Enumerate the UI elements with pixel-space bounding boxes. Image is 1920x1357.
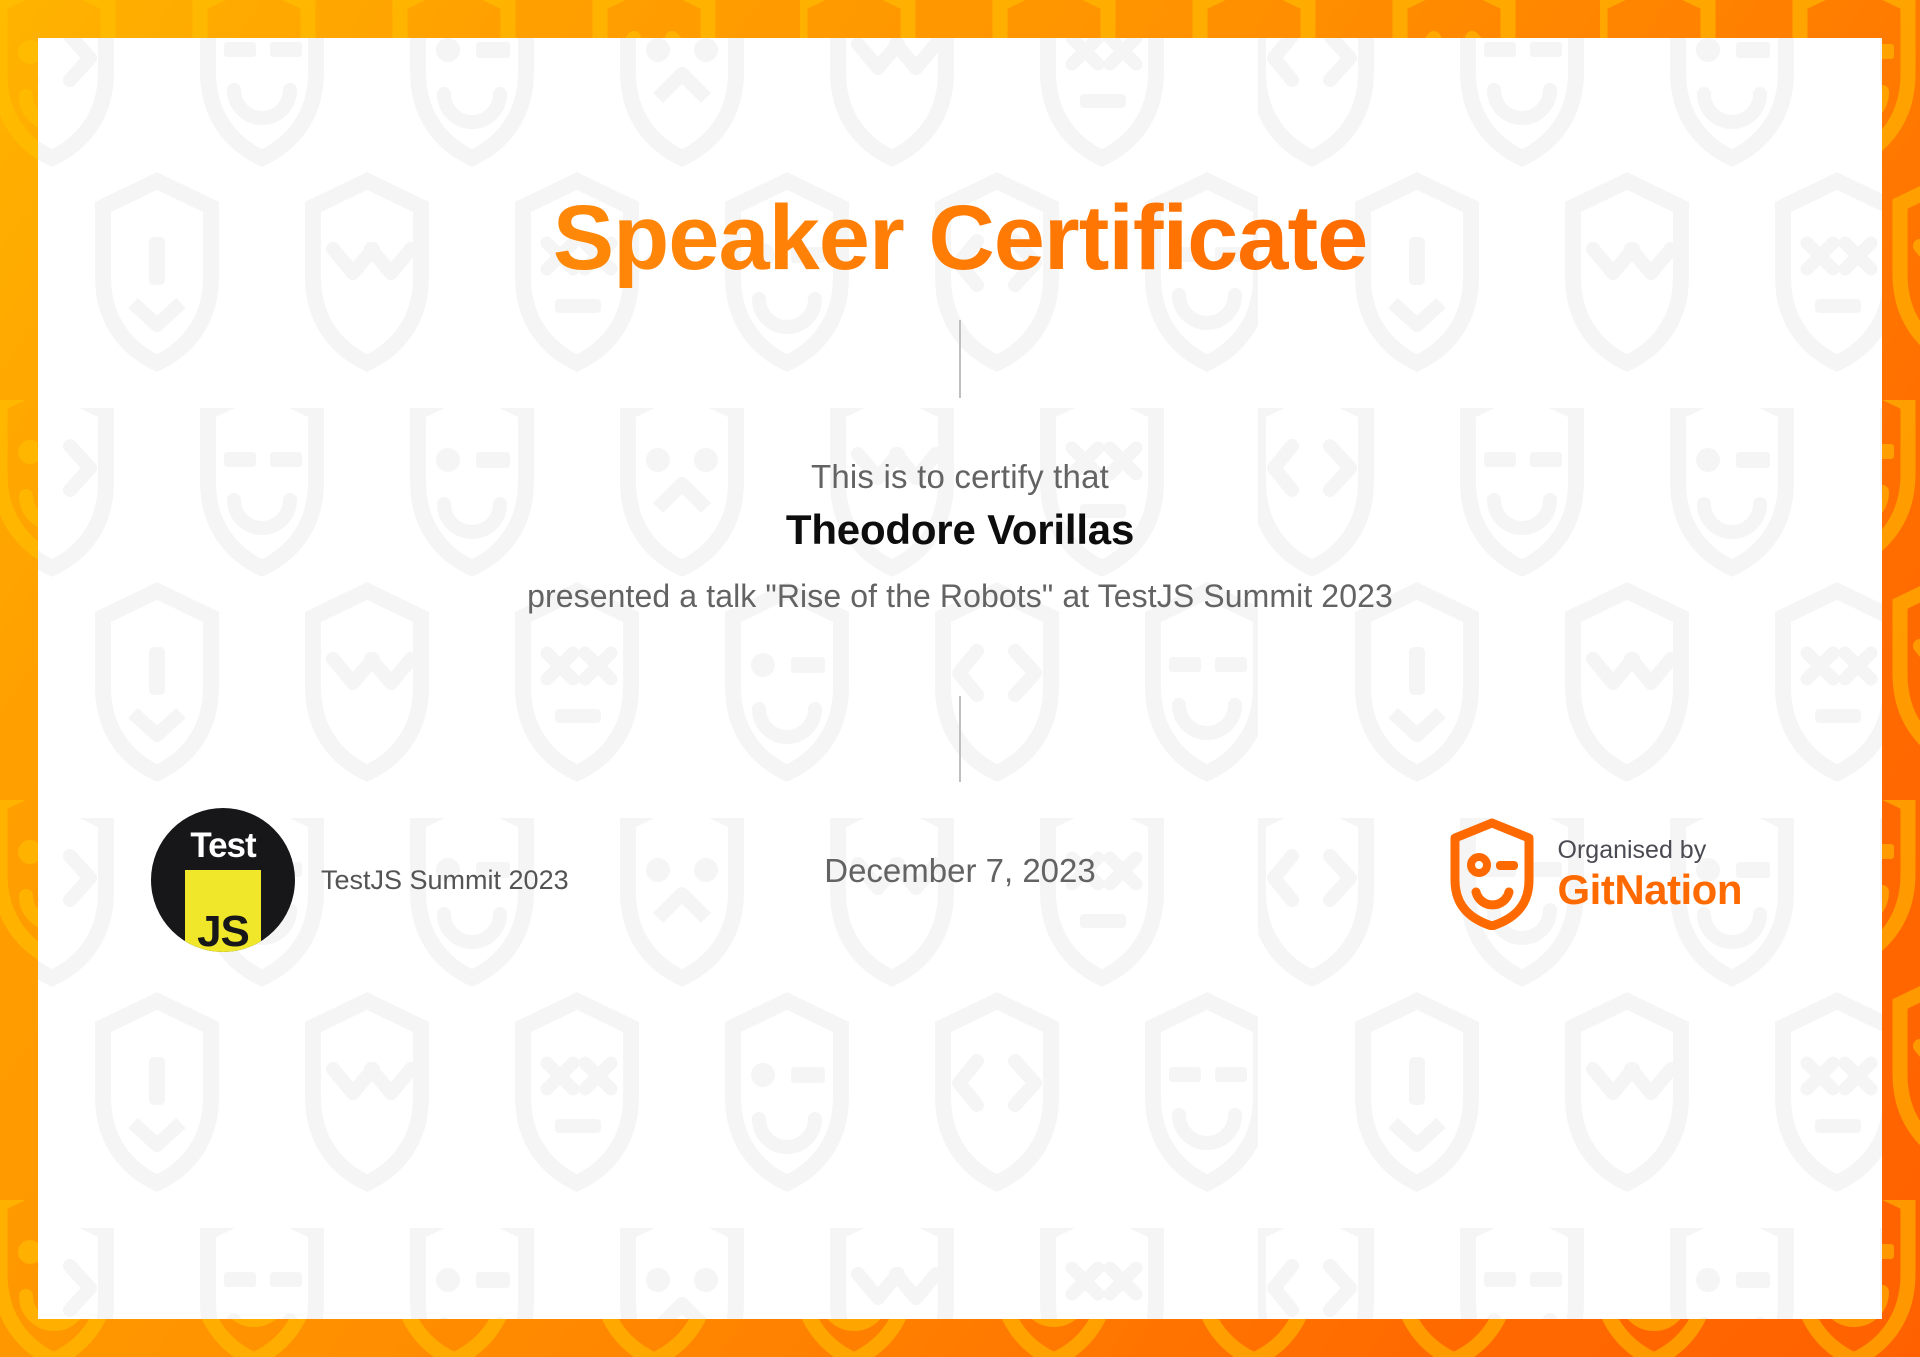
certificate-card: Speaker Certificate This is to certify t… [38, 38, 1882, 1319]
page-title: Speaker Certificate [38, 190, 1882, 288]
testjs-logo-word-js: JS [185, 910, 261, 952]
organiser-kicker: Organised by [1558, 835, 1742, 866]
gitnation-shield-icon [1448, 818, 1536, 930]
talk-description: presented a talk "Rise of the Robots" at… [38, 578, 1882, 615]
organiser-text: Organised by GitNation [1558, 835, 1742, 913]
organiser-brand: GitNation [1558, 866, 1742, 913]
divider-tick-top [959, 320, 961, 398]
organiser-lockup: Organised by GitNation [1448, 818, 1742, 930]
certificate-footer: Test JS TestJS Summit 2023 December 7, 2… [38, 790, 1882, 990]
certificate-root: Speaker Certificate This is to certify t… [0, 0, 1920, 1357]
divider-tick-bottom [959, 696, 961, 782]
recipient-name: Theodore Vorillas [38, 506, 1882, 554]
certify-line: This is to certify that [38, 458, 1882, 496]
